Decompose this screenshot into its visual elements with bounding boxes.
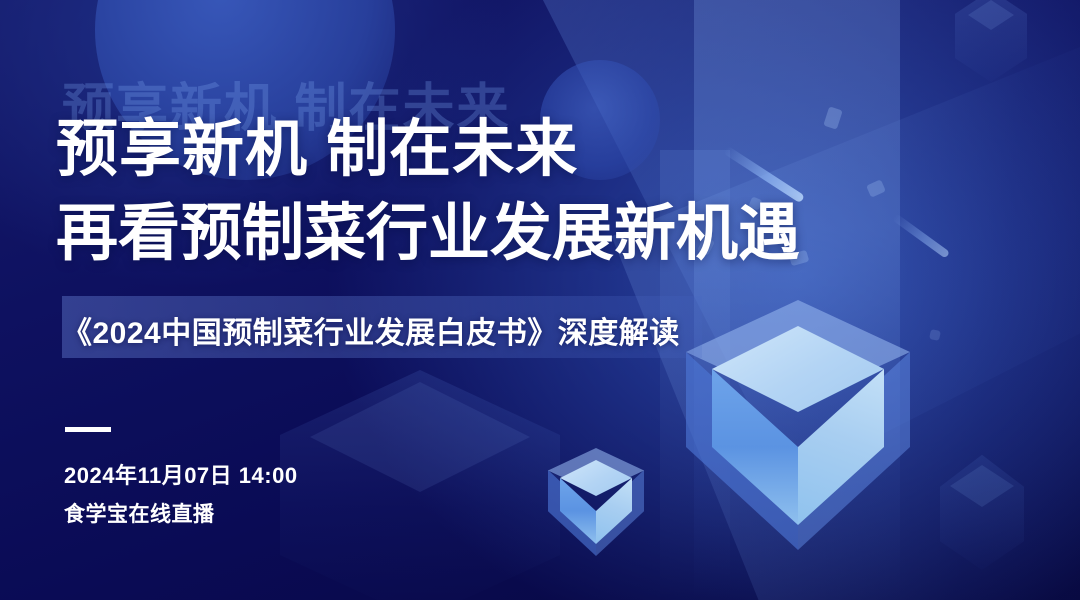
subtitle: 《2024中国预制菜行业发展白皮书》深度解读: [62, 308, 680, 352]
headline-line-2: 再看预制菜行业发展新机遇: [56, 192, 800, 276]
section-divider: [65, 427, 111, 432]
event-datetime: 2024年11月07日 14:00: [64, 458, 298, 490]
broadcast-channel: 食学宝在线直播: [64, 498, 215, 528]
headline-line-1: 预享新机 制在未来: [56, 108, 800, 192]
page-title: 预享新机 制在未来 再看预制菜行业发展新机遇: [56, 108, 800, 276]
promo-poster: 预享新机 制在未来 预享新机 制在未来 再看预制菜行业发展新机遇 《2024中国…: [0, 0, 1080, 600]
poster-content: 预享新机 制在未来 预享新机 制在未来 再看预制菜行业发展新机遇 《2024中国…: [0, 0, 1080, 600]
